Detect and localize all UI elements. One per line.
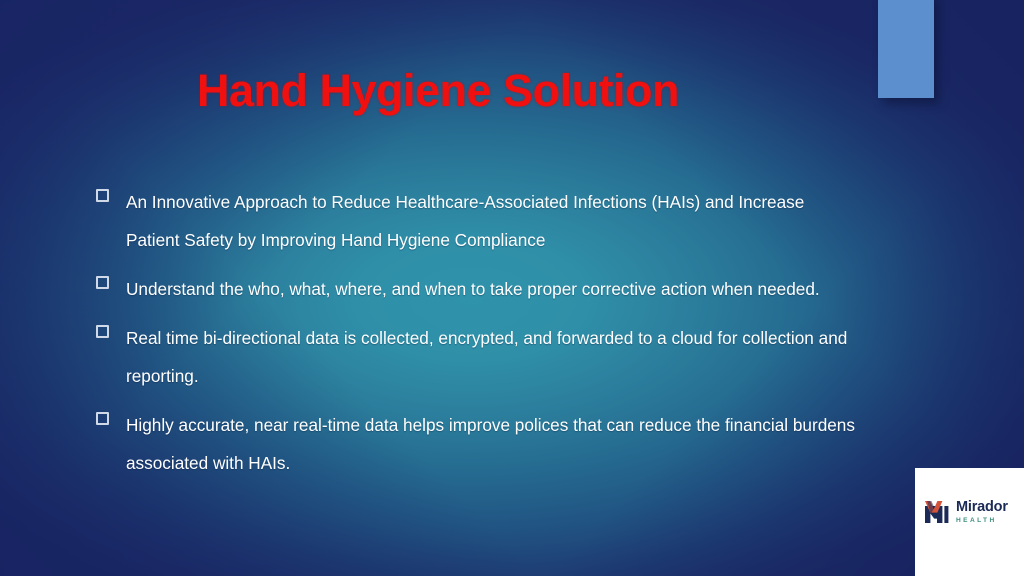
presentation-slide: Hand Hygiene Solution An Innovative Appr… <box>0 0 1024 576</box>
slide-title: Hand Hygiene Solution <box>197 68 679 113</box>
mirador-m-logo-icon <box>924 500 950 524</box>
logo-name: Mirador <box>956 500 1008 515</box>
decorative-rectangle <box>878 0 934 98</box>
hollow-square-bullet-icon <box>96 412 109 425</box>
list-item: Understand the who, what, where, and whe… <box>96 270 856 308</box>
hollow-square-bullet-icon <box>96 325 109 338</box>
list-item: An Innovative Approach to Reduce Healthc… <box>96 183 856 259</box>
logo-tagline: HEALTH <box>956 518 997 525</box>
logo-card: Mirador HEALTH <box>915 468 1024 576</box>
hollow-square-bullet-icon <box>96 189 109 202</box>
list-item-text: Highly accurate, near real-time data hel… <box>126 406 856 482</box>
list-item: Highly accurate, near real-time data hel… <box>96 406 856 482</box>
list-item-text: Understand the who, what, where, and whe… <box>126 270 856 308</box>
list-item-text: An Innovative Approach to Reduce Healthc… <box>126 183 856 259</box>
list-item-text: Real time bi-directional data is collect… <box>126 319 856 395</box>
list-item: Real time bi-directional data is collect… <box>96 319 856 395</box>
logo: Mirador HEALTH <box>924 500 1008 524</box>
logo-wordmark: Mirador HEALTH <box>956 500 1008 524</box>
hollow-square-bullet-icon <box>96 276 109 289</box>
bullet-list: An Innovative Approach to Reduce Healthc… <box>96 183 856 493</box>
